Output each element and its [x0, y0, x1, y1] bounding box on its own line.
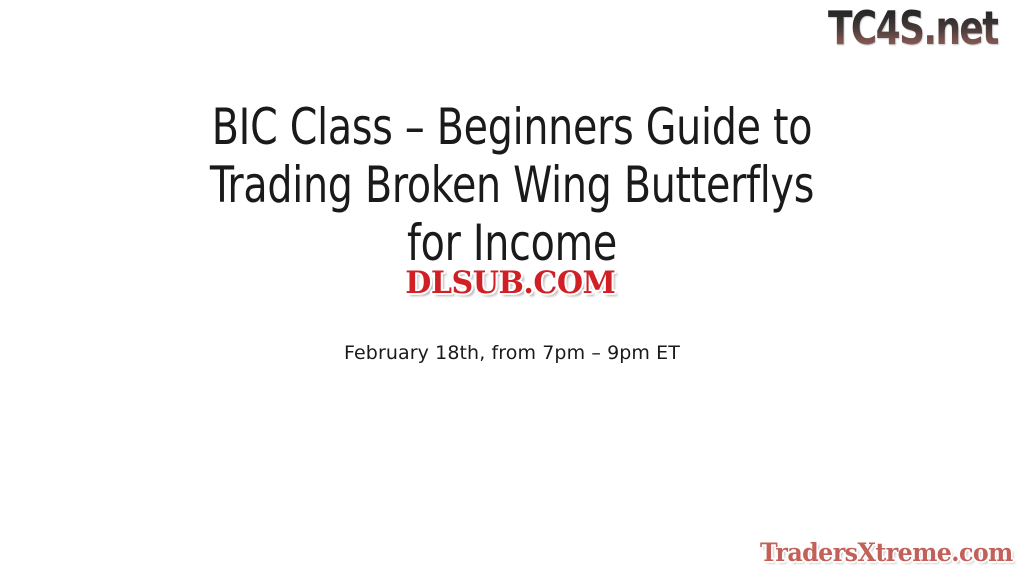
tc4s-logo-text: TC4S.net [828, 5, 998, 51]
slide-subtitle: February 18th, from 7pm – 9pm ET [0, 341, 1024, 365]
tc4s-logo: TC4S.net [828, 2, 1024, 54]
slide-title-line-2: Trading Broken Wing Butterflys [61, 156, 962, 214]
slide-title: BIC Class – Beginners Guide to Trading B… [0, 98, 1024, 272]
tradersxtreme-logo: TradersXtreme.com [760, 534, 1018, 570]
dlsub-watermark-text: DLSUB.COM [405, 268, 615, 299]
slide-title-line-1: BIC Class – Beginners Guide to [61, 98, 962, 156]
presentation-slide: TC4S.net BIC Class – Beginners Guide to … [0, 0, 1024, 576]
dlsub-watermark: DLSUB.COM [370, 264, 650, 302]
tradersxtreme-logo-text: TradersXtreme.com [760, 540, 1013, 565]
